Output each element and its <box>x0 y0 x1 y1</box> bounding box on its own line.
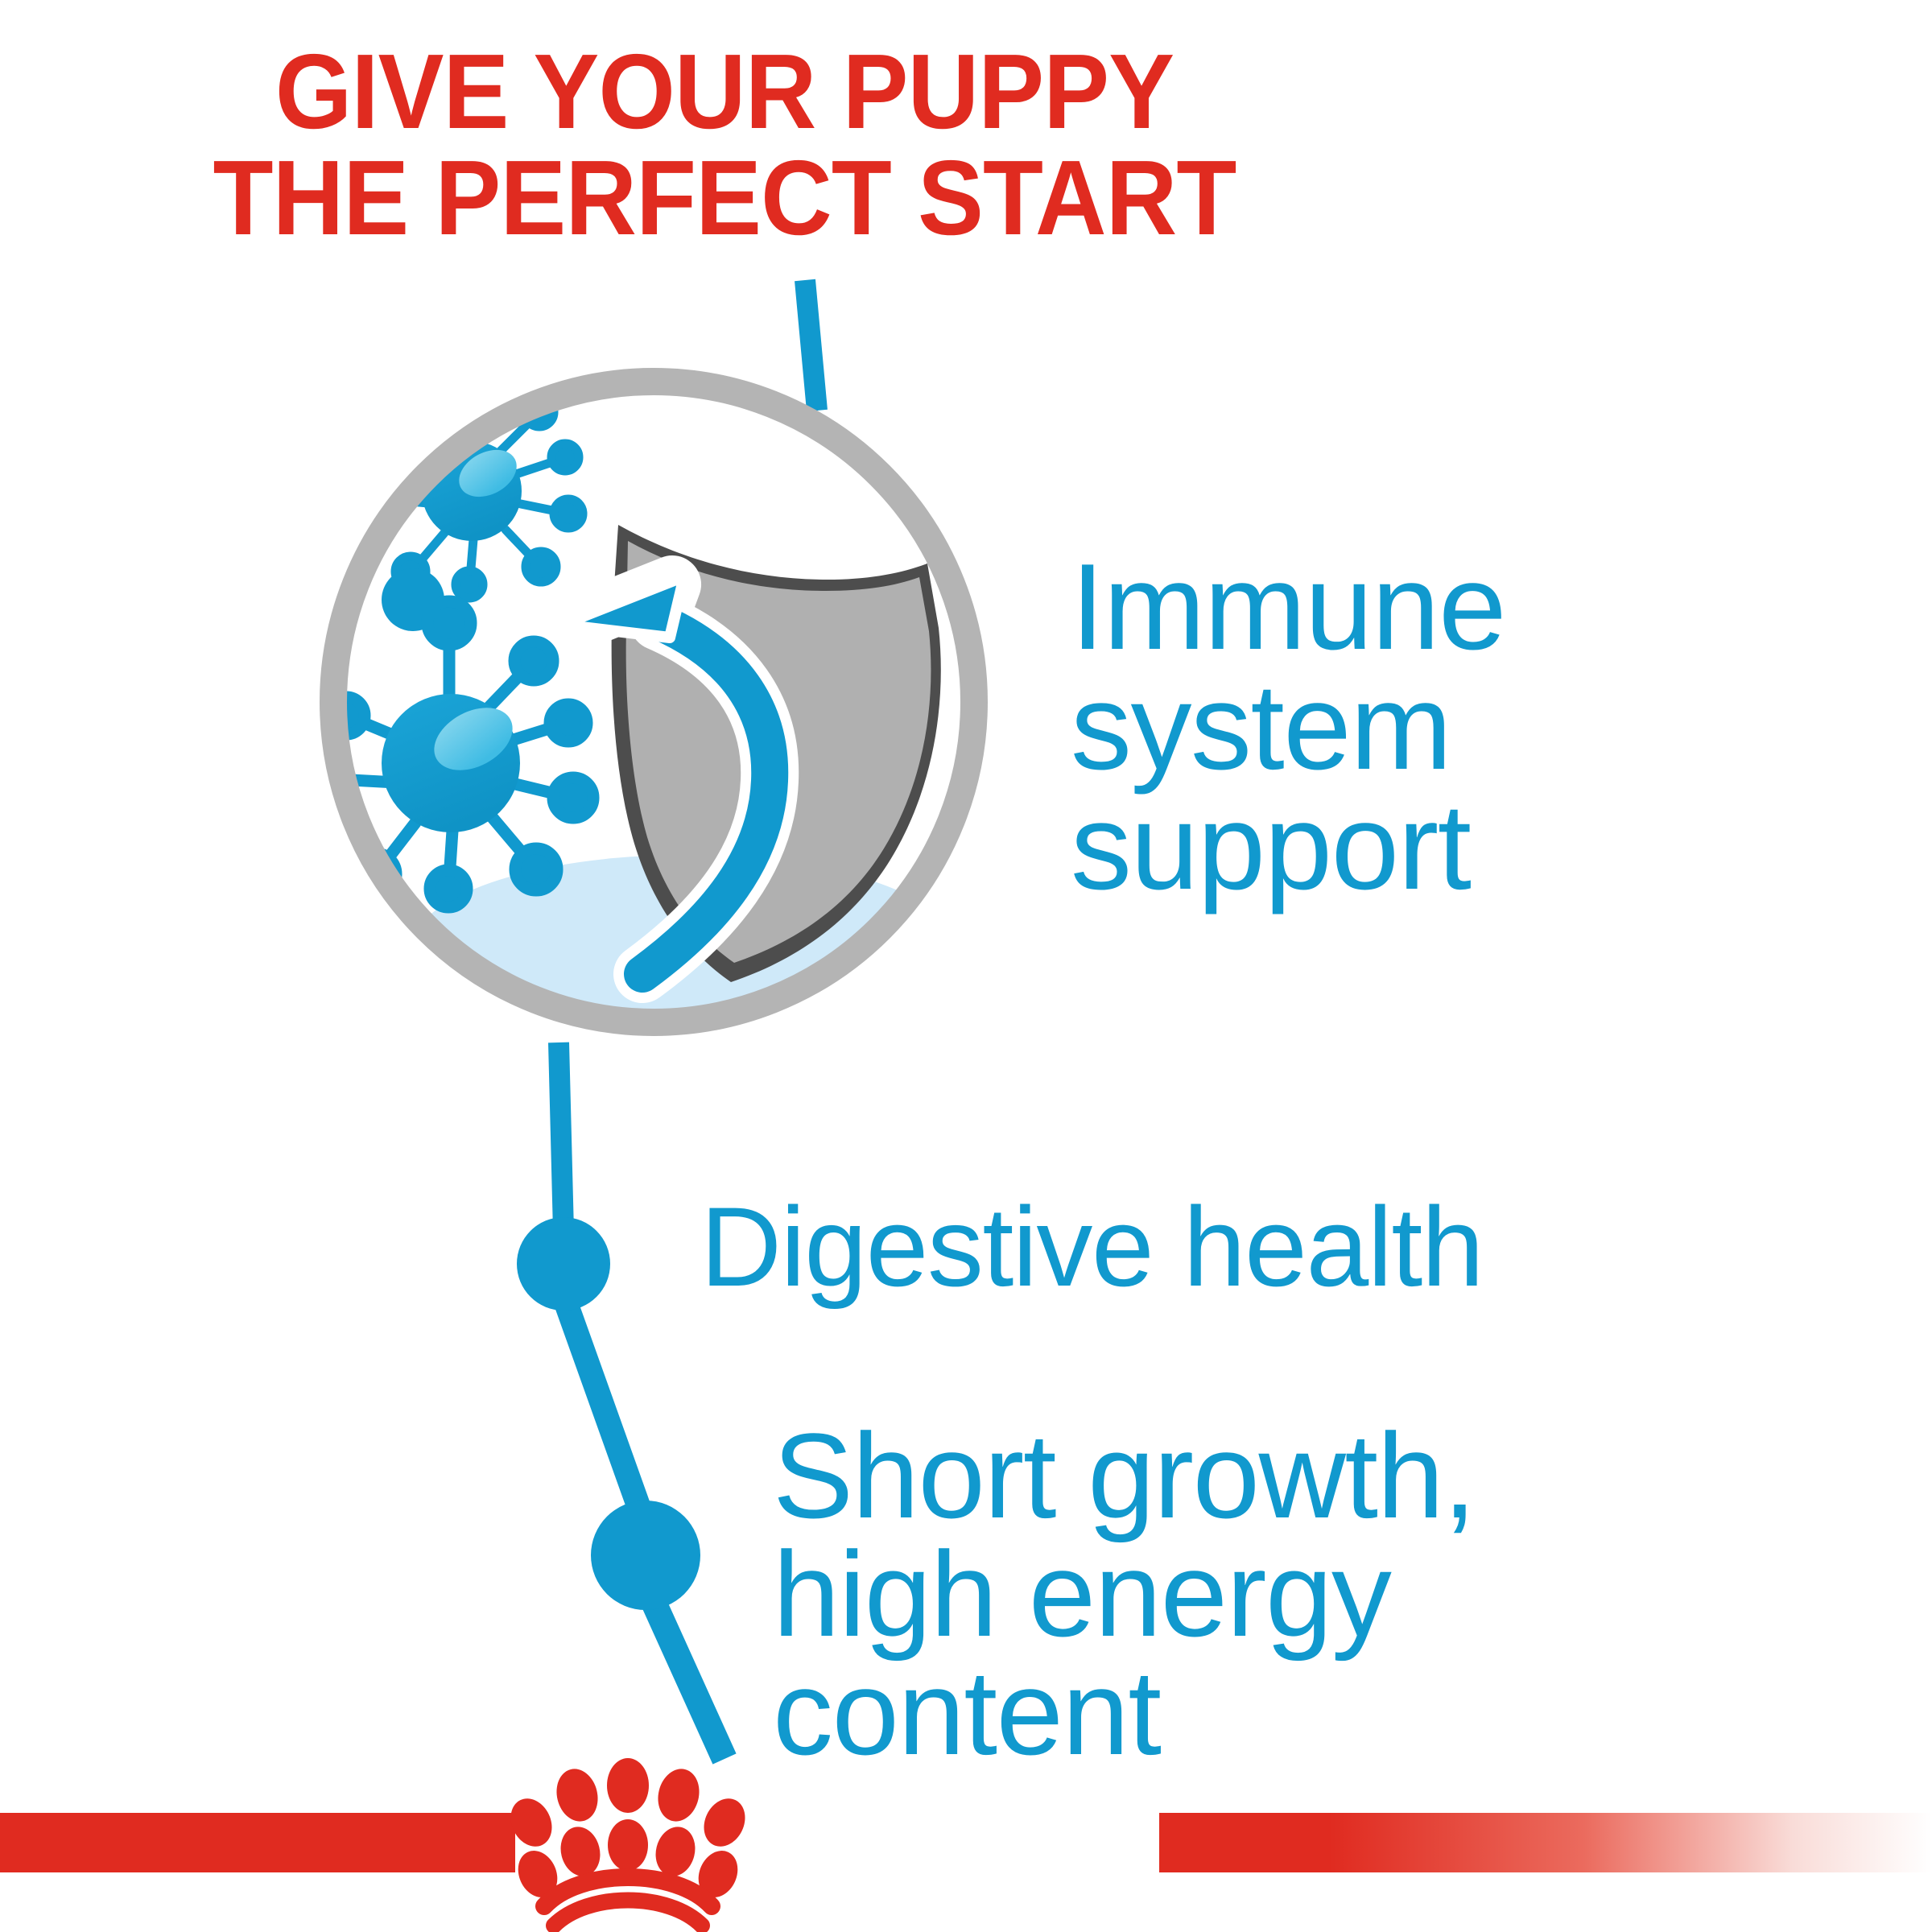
royal-canin-crown-logo <box>467 1755 789 1932</box>
feature-line: Short growth, <box>773 1417 1476 1535</box>
feature-line: content <box>773 1653 1476 1772</box>
connector-dot-icon <box>517 1217 610 1311</box>
poster-canvas: GIVE YOUR PUPPY THE PERFECT START <box>0 0 1932 1932</box>
feature-line: system <box>1071 667 1505 787</box>
feature-line: Digestive health <box>700 1191 1483 1302</box>
brand-bar-right <box>1159 1813 1932 1872</box>
feature-label-short-growth-high-energy-content: Short growth, high energy content <box>773 1417 1476 1772</box>
immune-shield-icon <box>306 338 998 1079</box>
feature-label-immune-system-support: Immune system support <box>1071 547 1505 907</box>
feature-line: high energy <box>773 1535 1476 1653</box>
brand-bar-left <box>0 1813 515 1872</box>
feature-label-digestive-health: Digestive health <box>700 1191 1483 1302</box>
feature-line: support <box>1071 787 1505 907</box>
connector-dot-icon <box>591 1501 700 1610</box>
connector-line-middle <box>563 1296 644 1521</box>
connector-line-lower <box>648 1590 724 1759</box>
brand-band <box>0 1813 1932 1872</box>
crown-arc-inner <box>554 1901 702 1926</box>
feature-line: Immune <box>1071 547 1505 667</box>
